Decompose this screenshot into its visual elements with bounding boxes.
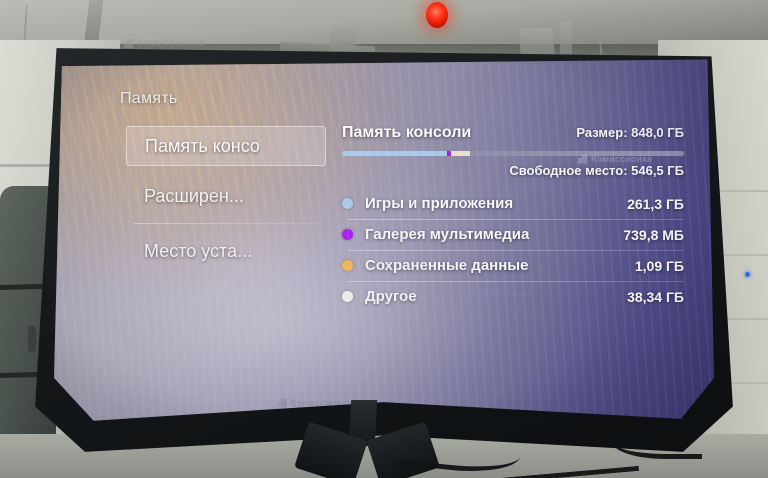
storage-usage-bar <box>342 151 684 156</box>
legend-row[interactable]: Галерея мультимедиа739,8 МБ <box>342 219 684 250</box>
bar-segment-other <box>455 151 470 156</box>
panel-header: Память консоли Размер: 848,0 ГБ <box>342 124 684 142</box>
legend-value: 739,8 МБ <box>623 227 684 243</box>
bar-segment-games <box>342 151 447 156</box>
legend-label: Галерея мультимедиа <box>365 226 529 243</box>
sidebar-item-label: Память консо <box>145 136 260 157</box>
sidebar-item-install-location[interactable]: Место уста... <box>126 231 326 271</box>
sidebar-nav: Память консо Расширен... Место уста... <box>126 126 326 271</box>
monitor-screen: Память Память консо Расширен... Место ус… <box>54 58 714 430</box>
legend-row[interactable]: Игры и приложения261,3 ГБ <box>342 188 684 219</box>
legend-color-dot-icon <box>342 198 353 209</box>
standby-led <box>745 272 750 277</box>
red-indicator-light <box>426 2 448 28</box>
free-space-label: Свободное место: 546,5 ГБ <box>342 163 684 178</box>
storage-settings-ui: Память Память консо Расширен... Место ус… <box>54 58 714 430</box>
storage-legend: Игры и приложения261,3 ГБГалерея мультим… <box>342 188 684 312</box>
sidebar-item-extended-storage[interactable]: Расширен... <box>126 176 326 216</box>
legend-label: Другое <box>365 288 417 305</box>
legend-label: Сохраненные данные <box>365 257 528 274</box>
photo-scene: Комиссионка Комиссионка Память Память ко… <box>0 0 768 478</box>
legend-row[interactable]: Сохраненные данные1,09 ГБ <box>342 250 684 281</box>
sidebar-divider <box>134 223 322 224</box>
legend-color-dot-icon <box>342 260 353 271</box>
shop-logo-icon <box>278 399 287 408</box>
bar-segment-free <box>470 151 684 156</box>
sidebar-item-console-storage[interactable]: Память консо <box>126 126 326 166</box>
page-title: Память <box>120 90 178 108</box>
legend-label: Игры и приложения <box>365 195 513 212</box>
legend-value: 38,34 ГБ <box>627 289 684 305</box>
legend-value: 1,09 ГБ <box>635 258 684 274</box>
console-storage-panel: Память консоли Размер: 848,0 ГБ Свободно… <box>342 124 684 312</box>
sidebar-item-label: Место уста... <box>144 241 252 262</box>
legend-value: 261,3 ГБ <box>627 196 684 212</box>
panel-title: Память консоли <box>342 124 471 142</box>
legend-color-dot-icon <box>342 291 353 302</box>
monitor: Комиссионка Память Память консо Расширен… <box>28 44 740 456</box>
legend-color-dot-icon <box>342 229 353 240</box>
legend-row[interactable]: Другое38,34 ГБ <box>342 281 684 312</box>
spacer <box>126 166 326 176</box>
sidebar-item-label: Расширен... <box>144 186 244 207</box>
total-size-label: Размер: 848,0 ГБ <box>576 125 684 140</box>
